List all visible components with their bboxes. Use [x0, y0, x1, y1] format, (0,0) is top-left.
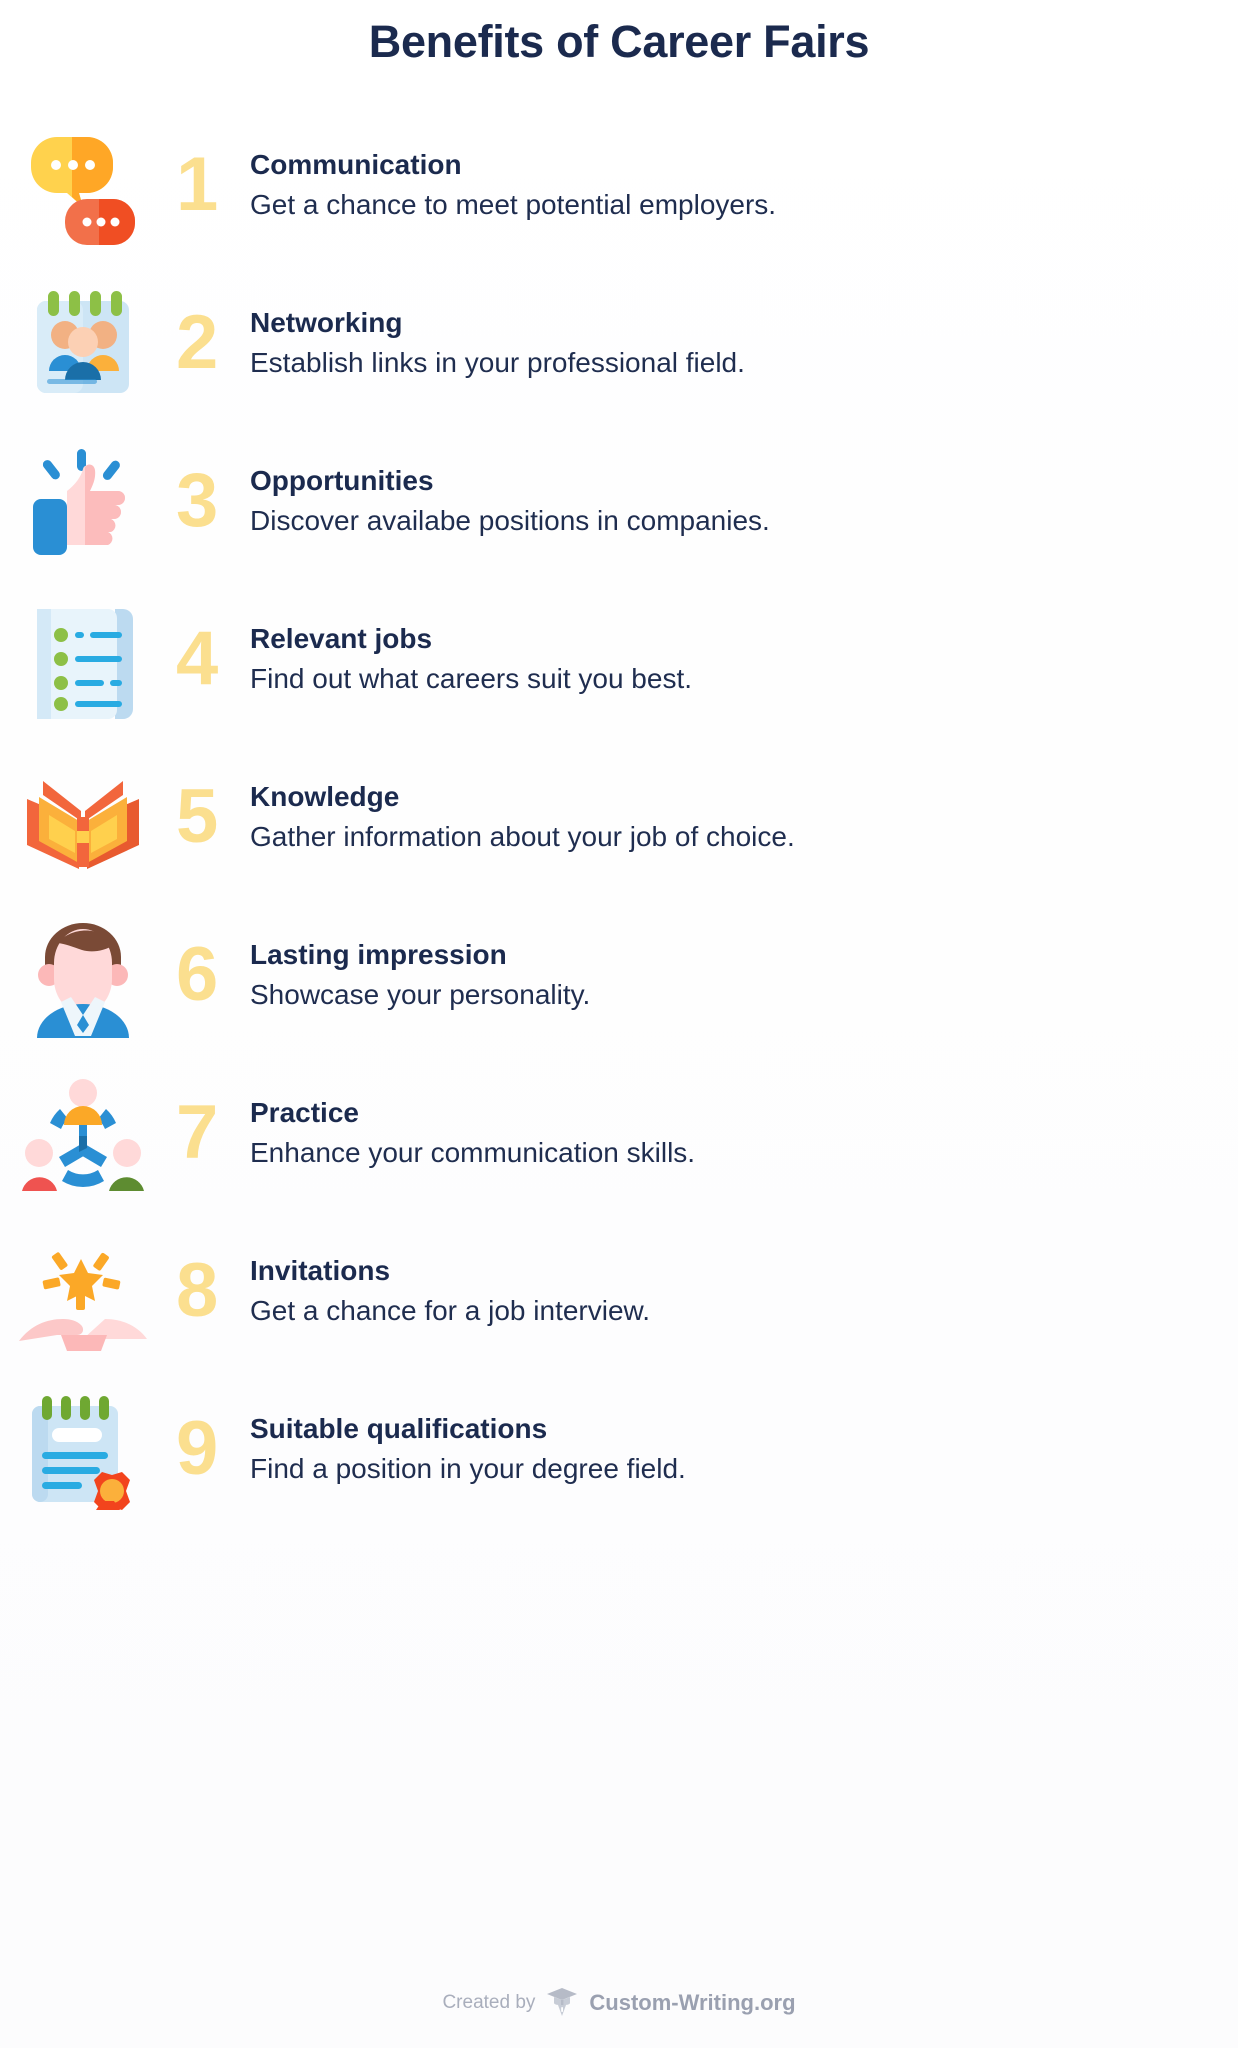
infographic-page: Benefits of Career Fairs 1	[0, 0, 1238, 2048]
network-people-icon	[8, 1063, 158, 1203]
item-text: Practice Enhance your communication skil…	[236, 1097, 1238, 1170]
list-item: 9 Suitable qualifications Find a positio…	[0, 1370, 1238, 1528]
item-text: Opportunities Discover availabe position…	[236, 465, 1238, 538]
people-card-icon	[8, 273, 158, 413]
item-title: Lasting impression	[250, 939, 1238, 971]
list-item: 5 Knowledge Gather information about you…	[0, 738, 1238, 896]
page-title: Benefits of Career Fairs	[0, 0, 1238, 68]
list-item: 8 Invitations Get a chance for a job int…	[0, 1212, 1238, 1370]
speech-bubbles-icon	[8, 115, 158, 255]
checklist-icon	[8, 589, 158, 729]
item-text: Networking Establish links in your profe…	[236, 307, 1238, 380]
item-title: Knowledge	[250, 781, 1238, 813]
list-item: 7 Practice Enhance your communication sk…	[0, 1054, 1238, 1212]
item-number: 1	[158, 147, 236, 223]
item-description: Get a chance to meet potential employers…	[250, 188, 1238, 222]
item-title: Networking	[250, 307, 1238, 339]
item-description: Showcase your personality.	[250, 978, 1238, 1012]
item-title: Suitable qualifications	[250, 1413, 1238, 1445]
footer: Created by Custom-Writing.org	[0, 1983, 1238, 2022]
item-number: 5	[158, 779, 236, 855]
item-title: Opportunities	[250, 465, 1238, 497]
item-number: 6	[158, 937, 236, 1013]
item-number: 9	[158, 1411, 236, 1487]
item-text: Relevant jobs Find out what careers suit…	[236, 623, 1238, 696]
item-text: Knowledge Gather information about your …	[236, 781, 1238, 854]
item-description: Get a chance for a job interview.	[250, 1294, 1238, 1328]
item-title: Invitations	[250, 1255, 1238, 1287]
item-text: Invitations Get a chance for a job inter…	[236, 1255, 1238, 1328]
footer-created-by: Created by	[442, 1992, 535, 2014]
certificate-icon	[8, 1379, 158, 1519]
item-title: Communication	[250, 149, 1238, 181]
item-text: Lasting impression Showcase your persona…	[236, 939, 1238, 1012]
hand-star-icon	[8, 1221, 158, 1361]
item-description: Gather information about your job of cho…	[250, 820, 1238, 854]
list-item: 2 Networking Establish links in your pro…	[0, 264, 1238, 422]
list-item: 1 Communication Get a chance to meet pot…	[0, 106, 1238, 264]
item-number: 4	[158, 621, 236, 697]
item-number: 2	[158, 305, 236, 381]
item-description: Find a position in your degree field.	[250, 1452, 1238, 1486]
item-title: Practice	[250, 1097, 1238, 1129]
open-book-icon	[8, 747, 158, 887]
benefits-list: 1 Communication Get a chance to meet pot…	[0, 106, 1238, 1528]
item-number: 8	[158, 1253, 236, 1329]
list-item: 6 Lasting impression Showcase your perso…	[0, 896, 1238, 1054]
item-description: Enhance your communication skills.	[250, 1136, 1238, 1170]
item-description: Find out what careers suit you best.	[250, 662, 1238, 696]
item-title: Relevant jobs	[250, 623, 1238, 655]
thumbs-up-icon	[8, 431, 158, 571]
item-description: Discover availabe positions in companies…	[250, 504, 1238, 538]
item-number: 3	[158, 463, 236, 539]
graduation-cap-pen-icon	[545, 1983, 579, 2022]
footer-brand: Custom-Writing.org	[589, 1990, 795, 2016]
list-item: 4 Relevant jobs Find out what careers su…	[0, 580, 1238, 738]
item-description: Establish links in your professional fie…	[250, 346, 1238, 380]
list-item: 3 Opportunities Discover availabe positi…	[0, 422, 1238, 580]
item-text: Suitable qualifications Find a position …	[236, 1413, 1238, 1486]
item-number: 7	[158, 1095, 236, 1171]
item-text: Communication Get a chance to meet poten…	[236, 149, 1238, 222]
person-suit-icon	[8, 905, 158, 1045]
